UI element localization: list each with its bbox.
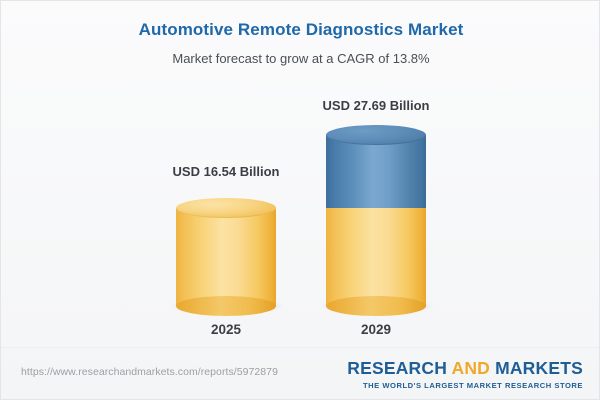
bar-category-label-2029: 2029 [291, 322, 461, 337]
bar-group-2029: USD 27.69 Billion 2029 [291, 1, 461, 349]
source-url[interactable]: https://www.researchandmarkets.com/repor… [21, 366, 278, 378]
bar-segment-top-ellipse [326, 125, 426, 145]
bar-segment-base-ellipse [326, 296, 426, 316]
bar-value-label-2025: USD 16.54 Billion [141, 164, 311, 179]
brand-word-research: RESEARCH [347, 358, 447, 378]
infographic-canvas: Automotive Remote Diagnostics Market Mar… [0, 0, 600, 400]
bar-segment-base-2025 [176, 198, 276, 306]
chart-plot-area: USD 16.54 Billion 2025 USD 27.69 Billion [1, 1, 600, 349]
bar-segment-body [326, 208, 426, 306]
brand-word-and: AND [451, 358, 490, 378]
brand-logo: RESEARCH AND MARKETS THE WORLD'S LARGEST… [347, 358, 583, 391]
brand-tagline: THE WORLD'S LARGEST MARKET RESEARCH STOR… [347, 380, 583, 391]
bar-segment-body [176, 208, 276, 306]
bar-segment-body [326, 135, 426, 208]
bar-segment-growth-2029 [326, 125, 426, 208]
bar-value-label-2029: USD 27.69 Billion [291, 98, 461, 113]
bar-cylinder-2029 [326, 125, 426, 306]
footer: https://www.researchandmarkets.com/repor… [1, 347, 600, 399]
brand-name: RESEARCH AND MARKETS [347, 358, 583, 378]
bar-segment-top-ellipse [176, 198, 276, 218]
bar-segment-base-2029 [326, 198, 426, 306]
bar-category-label-2025: 2025 [141, 322, 311, 337]
brand-word-markets: MARKETS [495, 358, 583, 378]
bar-cylinder-2025 [176, 198, 276, 306]
bar-segment-base-ellipse [176, 296, 276, 316]
bar-group-2025: USD 16.54 Billion 2025 [141, 1, 311, 349]
